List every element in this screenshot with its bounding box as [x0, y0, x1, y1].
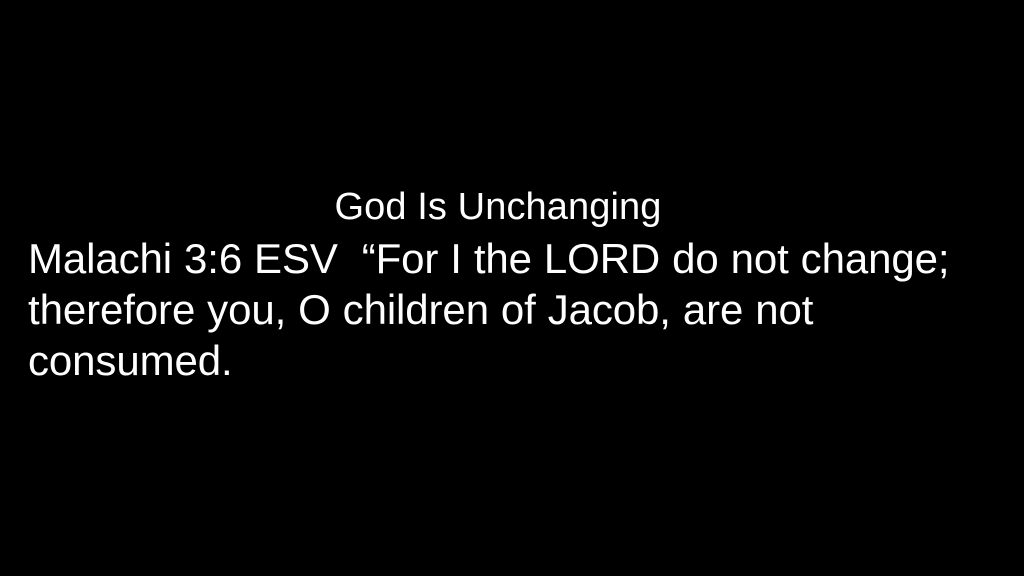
- scripture-body-text: Malachi 3:6 ESV “For I the LORD do not c…: [28, 233, 996, 386]
- slide-title: God Is Unchanging: [28, 182, 996, 233]
- presentation-slide: God Is Unchanging Malachi 3:6 ESV “For I…: [0, 0, 1024, 576]
- slide-text-block: God Is Unchanging Malachi 3:6 ESV “For I…: [28, 182, 996, 386]
